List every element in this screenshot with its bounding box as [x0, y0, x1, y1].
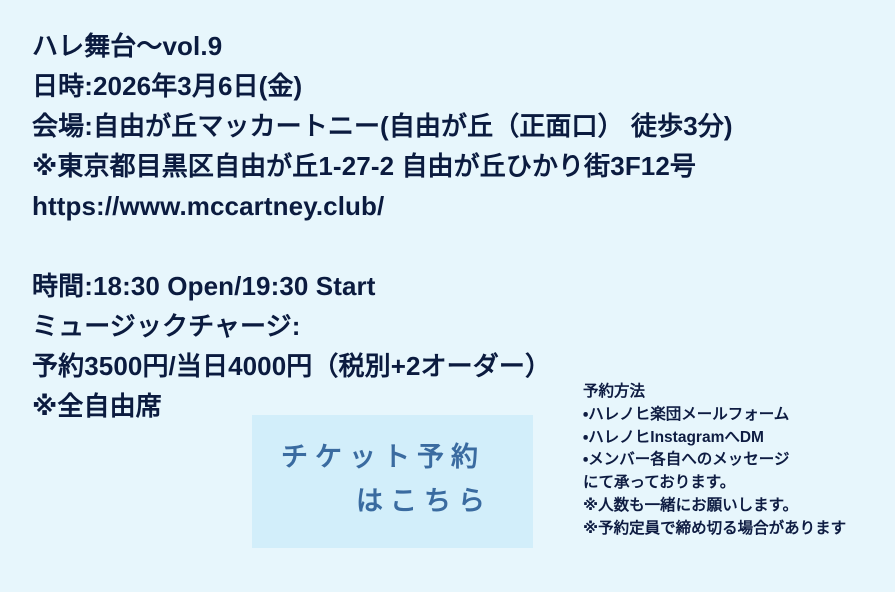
page-bottom-edge	[0, 592, 895, 596]
reservation-method-item: ・ハレノヒInstagramへDM	[583, 427, 888, 450]
reservation-method-note: 予約方法 ・ハレノヒ楽団メールフォーム ・ハレノヒInstagramへDM ・メ…	[583, 381, 888, 541]
ticket-banner-line-2: はこちら	[252, 479, 533, 523]
reservation-extra-note: ※予約定員で締め切る場合があります	[583, 518, 888, 541]
music-charge-label: ミュージックチャージ:	[32, 306, 732, 346]
ticket-banner-line-1: チケット予約	[252, 415, 533, 479]
event-flyer: ハレ舞台〜vol.9 日時:2026年3月6日(金) 会場:自由が丘マッカートニ…	[0, 0, 895, 592]
event-info-block: ハレ舞台〜vol.9 日時:2026年3月6日(金) 会場:自由が丘マッカートニ…	[32, 26, 872, 226]
reservation-method-item: ・メンバー各自へのメッセージ	[583, 449, 888, 472]
reservation-method-item: ・ハレノヒ楽団メールフォーム	[583, 404, 888, 427]
music-charge-price: 予約3500円/当日4000円（税別+2オーダー）	[32, 346, 732, 386]
event-title: ハレ舞台〜vol.9	[32, 26, 872, 66]
reservation-accept-line: にて承っております。	[583, 472, 888, 495]
event-venue: 会場:自由が丘マッカートニー(自由が丘（正面口） 徒歩3分)	[32, 106, 872, 146]
reservation-extra-note: ※人数も一緒にお願いします。	[583, 495, 888, 518]
ticket-reservation-banner[interactable]: チケット予約 はこちら	[252, 415, 533, 548]
venue-url[interactable]: https://www.mccartney.club/	[32, 186, 872, 226]
event-time: 時間:18:30 Open/19:30 Start	[32, 266, 732, 306]
event-address: ※東京都目黒区自由が丘1-27-2 自由が丘ひかり街3F12号	[32, 146, 872, 186]
event-date: 日時:2026年3月6日(金)	[32, 66, 872, 106]
reservation-note-heading: 予約方法	[583, 381, 888, 404]
